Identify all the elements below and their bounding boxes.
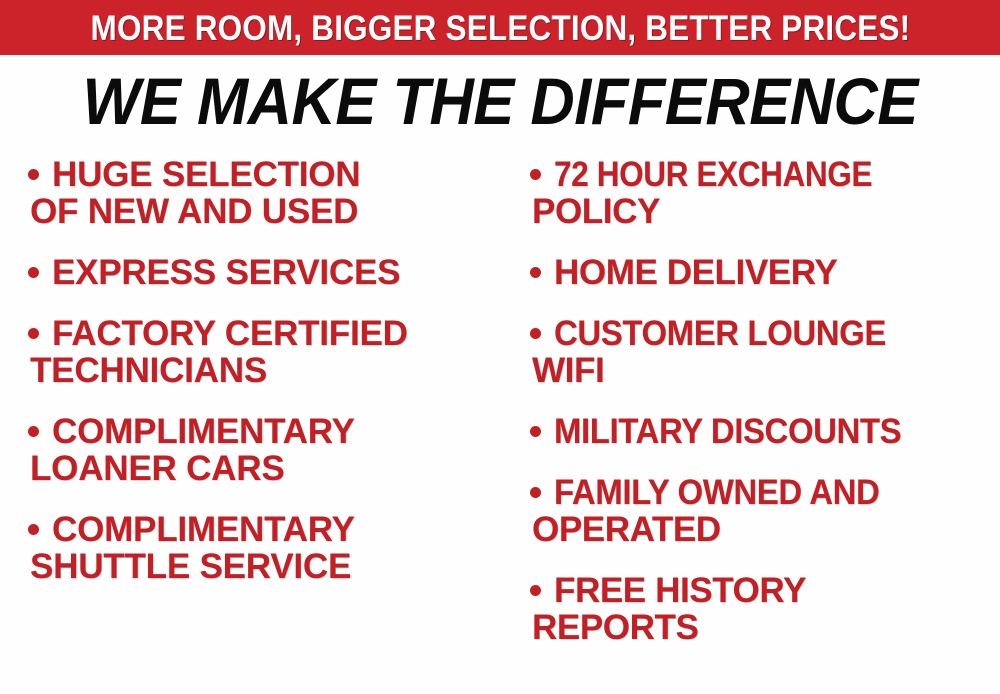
bullet-dot-icon [530,267,541,278]
list-item: HUGE SELECTION OF NEW AND USED [20,156,496,230]
list-item-text: HUGE SELECTION OF NEW AND USED [52,156,496,230]
list-item-text: FREE HISTORY REPORTS [554,572,998,646]
list-item: 72 HOUR EXCHANGE POLICY [522,156,998,230]
bullet-dot-icon [530,426,541,437]
list-item-line2: OPERATED [532,511,998,548]
bullet-dot-icon [28,169,39,180]
list-item-line1: HUGE SELECTION [52,155,360,194]
benefits-column-left: HUGE SELECTION OF NEW AND USED EXPRESS S… [0,156,500,609]
bullet-dot-icon [530,487,541,498]
list-item-line1: CUSTOMER LOUNGE [554,315,886,352]
list-item: HOME DELIVERY [522,254,998,291]
list-item-line2: LOANER CARS [30,450,496,487]
list-item-text: EXPRESS SERVICES [52,254,496,291]
list-item-text: MILITARY DISCOUNTS [554,413,998,450]
list-item: FACTORY CERTIFIED TECHNICIANS [20,315,496,389]
benefits-list-right: 72 HOUR EXCHANGE POLICY HOME DELIVERY CU… [522,156,998,646]
list-item-line2: POLICY [532,193,998,230]
list-item-line1: COMPLIMENTARY [52,412,355,451]
list-item-line1: COMPLIMENTARY [52,510,355,549]
list-item: COMPLIMENTARY SHUTTLE SERVICE [20,511,496,585]
list-item-text: COMPLIMENTARY SHUTTLE SERVICE [52,511,496,585]
list-item-text: CUSTOMER LOUNGE WIFI [554,315,998,389]
bullet-dot-icon [28,267,39,278]
benefits-list-left: HUGE SELECTION OF NEW AND USED EXPRESS S… [20,156,496,585]
list-item-line2: SHUTTLE SERVICE [30,548,496,585]
headline-container: WE MAKE THE DIFFERENCE [0,62,1000,140]
list-item: CUSTOMER LOUNGE WIFI [522,315,998,389]
list-item-line1: EXPRESS SERVICES [52,253,400,292]
list-item: FREE HISTORY REPORTS [522,572,998,646]
advertisement-poster: MORE ROOM, BIGGER SELECTION, BETTER PRIC… [0,0,1000,694]
list-item: FAMILY OWNED AND OPERATED [522,474,998,548]
list-item-text: HOME DELIVERY [554,254,998,291]
list-item-text: 72 HOUR EXCHANGE POLICY [554,156,998,230]
banner-headline-text: MORE ROOM, BIGGER SELECTION, BETTER PRIC… [90,11,910,46]
list-item-line1: FREE HISTORY [554,571,806,610]
list-item-line1: 72 HOUR EXCHANGE [554,156,872,193]
list-item-line2: WIFI [532,352,998,389]
list-item-text: FACTORY CERTIFIED TECHNICIANS [52,315,496,389]
list-item: MILITARY DISCOUNTS [522,413,998,450]
bullet-dot-icon [530,169,541,180]
list-item-text: COMPLIMENTARY LOANER CARS [52,413,496,487]
bullet-dot-icon [28,328,39,339]
list-item-text: FAMILY OWNED AND OPERATED [554,474,998,548]
list-item-line2: REPORTS [532,609,998,646]
main-headline: WE MAKE THE DIFFERENCE [82,68,917,134]
bullet-dot-icon [28,426,39,437]
list-item-line2: OF NEW AND USED [30,193,496,230]
list-item-line1: HOME DELIVERY [554,253,837,292]
bullet-dot-icon [530,585,541,596]
list-item-line1: FAMILY OWNED AND [554,474,879,511]
bullet-dot-icon [530,328,541,339]
top-banner: MORE ROOM, BIGGER SELECTION, BETTER PRIC… [0,0,1000,55]
benefits-columns: HUGE SELECTION OF NEW AND USED EXPRESS S… [0,156,1000,694]
list-item: COMPLIMENTARY LOANER CARS [20,413,496,487]
list-item-line1: FACTORY CERTIFIED [52,314,408,353]
benefits-column-right: 72 HOUR EXCHANGE POLICY HOME DELIVERY CU… [500,156,1000,670]
list-item-line2: TECHNICIANS [30,352,496,389]
list-item: EXPRESS SERVICES [20,254,496,291]
bullet-dot-icon [28,524,39,535]
list-item-line1: MILITARY DISCOUNTS [554,413,901,450]
